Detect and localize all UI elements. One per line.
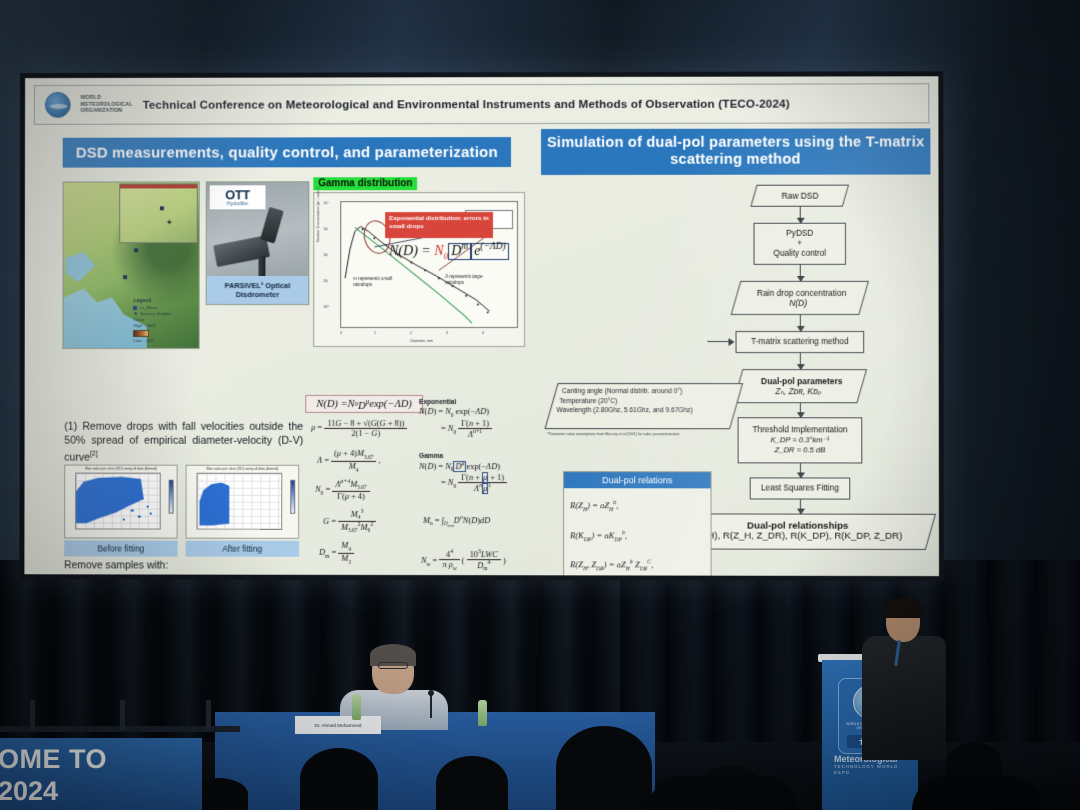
nw-equation: Nw = 44π ρw ( 103LWCDm4 ): [421, 549, 506, 572]
disdrometer-photo: OTT HydroMet PARSIVEL² Optical Disdromet…: [206, 181, 310, 305]
map-inset-site-marker: [160, 206, 164, 210]
map-value-low: Low : -182: [133, 338, 195, 344]
ott-logo: OTT HydroMet: [210, 185, 266, 209]
dv-colorbar-after: [290, 480, 295, 513]
gamma-chart-equation: N(D) = N0Dme(−ΛD): [389, 242, 509, 261]
lambda-equation: Λ = (μ + 4)M3.67M4 ,: [317, 449, 380, 473]
n0-equation: N0 = Λμ+4M3.67Γ(μ + 4): [315, 479, 370, 502]
ott-brand-sub: HydroMet: [227, 201, 248, 206]
mu-equation: μ = 11G − 8 + √(G(G + 8))2(1 − G): [311, 419, 407, 438]
map-legend-title: Legend: [133, 298, 195, 304]
gamma-main-equation: N(D) = N0Dμ exp(−ΛD): [305, 395, 423, 413]
assumption-line-1: Canting angle (Normal distrib. around 0°…: [562, 387, 733, 397]
podium-brand-line2: TECHNOLOGY WORLD EXPO: [834, 764, 908, 776]
disdrometer-receiver-arm: [260, 207, 284, 244]
rail-post-1: [30, 700, 35, 730]
audience-head-2: [436, 756, 508, 810]
map-color-ramp: [133, 330, 149, 337]
flow-arrow-7: [800, 500, 801, 514]
water-bottle-left: [352, 694, 361, 720]
exponential-error-callout: Exponential distribution: errors in smal…: [385, 212, 493, 238]
map-value-high: High : 2803: [133, 323, 195, 329]
left-section-banner: DSD measurements, quality control, and p…: [63, 137, 511, 168]
gamma-chart-plot-area: Observation Gamma M-P Exponential distri…: [340, 201, 518, 328]
dv-plot-after: Max value per class (VD) using all data …: [186, 465, 300, 539]
flow-node-dualpol-parameters: Dual-pol parameters Zₕ, Zᴅʀ, Kᴅₚ: [733, 369, 867, 403]
right-section-banner: Simulation of dual-pol parameters using …: [541, 128, 930, 175]
exponential-equation: N(D) = N0 exp(−ΛD) = N0 Γ(n + 1)Λn+1: [419, 407, 492, 439]
g-equation: G = M43M3.672M62: [323, 509, 376, 535]
qc-step-1: (1) Remove drops with fall velocities ou…: [64, 421, 303, 465]
map-lake: [65, 252, 95, 282]
conference-room-scene: WORLDMETEOROLOGICALORGANIZATION Technica…: [0, 0, 1080, 810]
study-area-map: ★ Legend La_Mesa ★Science Garden Value H…: [62, 181, 199, 349]
audience-shoulders-2: [912, 776, 1042, 810]
dp-equation-2: R(ZH, ZDR) = aZHb ZDRC,: [570, 559, 706, 572]
rail-post-2: [120, 700, 125, 730]
flow-arrow-2: [800, 265, 801, 281]
dv-plot-area-before: [75, 473, 161, 530]
speaker-torso: [862, 636, 946, 760]
welcome-banner-line1: OME TO: [0, 744, 107, 775]
large-drops-note: Λ represents large raindrops: [445, 274, 485, 285]
dv-caption-before: Before fitting: [64, 540, 177, 556]
slide-header: WORLDMETEOROLOGICALORGANIZATION Technica…: [34, 83, 929, 125]
dv-fitted-cloud: [199, 483, 229, 526]
dv-caption-after: After fitting: [186, 541, 300, 557]
dv-plot-area-after: [196, 473, 282, 530]
dv-scatter-cloud: [76, 477, 150, 525]
flow-node-pydsd: PyDSD + Quality control: [754, 223, 846, 265]
welcome-banner: OME TO 2024: [0, 738, 202, 810]
assumption-line-3: Wavelength (2.80Ghz, 5.61Ghz, and 9.67Gh…: [557, 406, 728, 416]
map-inset-star-marker: ★: [166, 219, 172, 226]
exponential-label: Exponential: [419, 399, 456, 406]
flow-node-tmatrix: T-matrix scattering method: [736, 331, 865, 353]
flow-arrow-assumptions: [707, 341, 733, 342]
flow-arrow-6: [800, 463, 801, 477]
gamma-distribution-tag: Gamma distribution: [313, 177, 417, 190]
dp-equation-0: R(ZH) = aZHb,: [570, 500, 706, 513]
panelist-glasses: [378, 662, 408, 669]
dv-plot-before: Max value per class (VD) using all data …: [64, 465, 177, 539]
audience-head-1: [300, 748, 378, 810]
audience-shoulders-1: [648, 776, 798, 810]
wmo-logo-icon: [45, 92, 71, 118]
audience-head-3: [556, 726, 652, 810]
presentation-slide: WORLDMETEOROLOGICALORGANIZATION Technica…: [24, 76, 939, 576]
welcome-banner-line2: 2024: [0, 776, 58, 807]
assumptions-footnote: *Parameter value assumptions from Macuny…: [547, 432, 758, 436]
gamma-chart-xlabel: Diameter, mm: [411, 339, 433, 343]
table-microphone: [430, 694, 432, 718]
dual-pol-relations-equations: R(ZH) = aZHb, R(KDP) = aKDPb, R(ZH, ZDR)…: [570, 492, 706, 576]
legend-square-icon: [133, 306, 137, 310]
map-inset: ★: [119, 183, 197, 243]
qc-heading: Remove samples with:: [64, 560, 168, 571]
water-bottle-right: [478, 700, 487, 726]
dual-pol-relations-box: Dual-pol relations R(ZH) = aZHb, R(KDP) …: [563, 471, 712, 576]
slide-header-title: Technical Conference on Meteorological a…: [143, 97, 790, 111]
legend-star-icon: ★: [133, 312, 137, 317]
rail-post-3: [206, 700, 211, 730]
gamma-distribution-chart: Number Concentration (m⁻³ mm⁻¹) Diameter…: [313, 192, 525, 347]
table-nameplate: Dr. Ahmed Mohammed: [295, 716, 381, 734]
map-site-science-garden: [123, 275, 127, 279]
dv-colorbar-before: [169, 480, 174, 513]
dm-equation: Dm = M4M3: [319, 541, 354, 565]
moment-equation: Mn = ∫DminDnN(D)dD: [423, 515, 490, 529]
ott-brand: OTT: [225, 189, 250, 201]
flow-node-least-squares: Least Squares Fitting: [750, 477, 851, 499]
dual-pol-relations-title: Dual-pol relations: [564, 472, 710, 488]
assumptions-box: Canting angle (Normal distrib. around 0°…: [544, 383, 743, 429]
map-legend-item-1: Science Garden: [140, 311, 171, 317]
gamma-chart-ylabel: Number Concentration (m⁻³ mm⁻¹): [316, 186, 320, 242]
flow-node-raindrop-concentration: Rain drop concentration N(D): [731, 281, 869, 315]
gamma-label: Gamma: [419, 453, 443, 460]
qc-step-2: (2) Number concentration< 10 mm-3 and ra…: [64, 573, 301, 576]
dp-equation-1: R(KDP) = aKDPb,: [570, 530, 706, 543]
flow-arrow-5: [800, 403, 801, 417]
small-drops-note: m represents small raindrops: [353, 276, 393, 287]
map-legend: Legend La_Mesa ★Science Garden Value Hig…: [133, 298, 195, 344]
gamma-equation: N(D) = N0Dμexp(−ΛD) = N0 Γ(n + μ + 1)Λnμ…: [419, 461, 507, 493]
dv-plot-title-before: Max value per class (VD) using all data …: [65, 467, 176, 471]
projection-screen: WORLDMETEOROLOGICALORGANIZATION Technica…: [19, 71, 944, 581]
flow-arrow-3: [800, 315, 801, 331]
flow-arrow-1: [800, 207, 801, 223]
speaker-hair: [883, 598, 923, 618]
dv-plot-title-after: Max value per class (VD) using all data …: [187, 467, 299, 471]
assumption-line-2: Temperature (20°C): [559, 397, 730, 407]
map-site-la-mesa: [134, 249, 138, 253]
flow-node-threshold: Threshold Implementation K_DP = 0.3°km⁻¹…: [738, 417, 863, 463]
wmo-logo-text: WORLDMETEOROLOGICALORGANIZATION: [81, 95, 133, 114]
disdrometer-caption: PARSIVEL² Optical Disdrometer: [207, 276, 309, 304]
flow-node-raw-dsd: Raw DSD: [750, 185, 849, 207]
flow-arrow-4: [800, 353, 801, 369]
